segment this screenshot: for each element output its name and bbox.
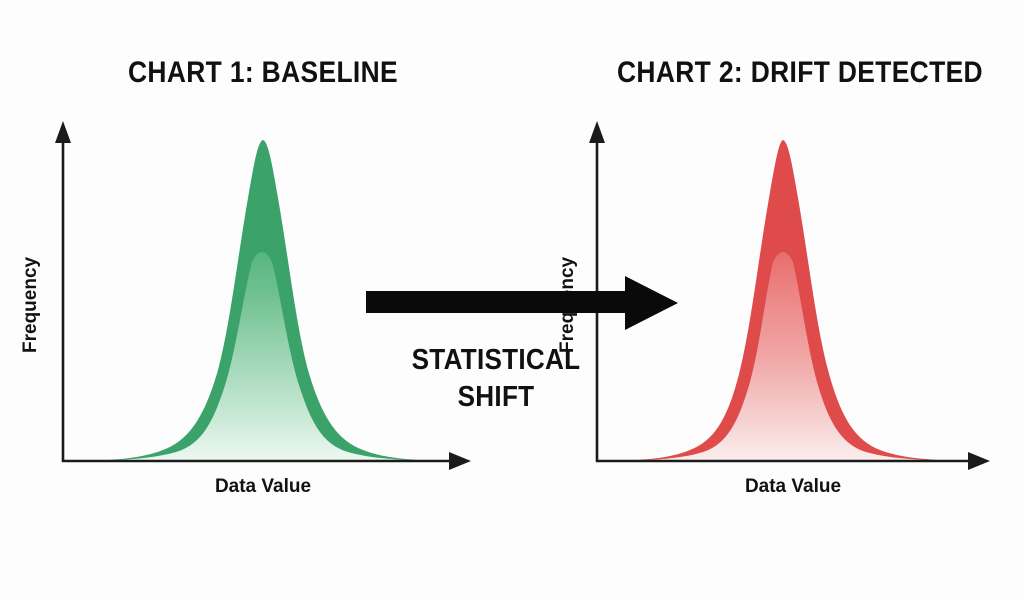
infographic-canvas: CHART 1: BASELINE CHART 2: DRIFT DETECTE… <box>0 0 1024 600</box>
statistical-shift-arrow <box>0 0 1024 600</box>
right-arrow-icon <box>366 276 678 330</box>
